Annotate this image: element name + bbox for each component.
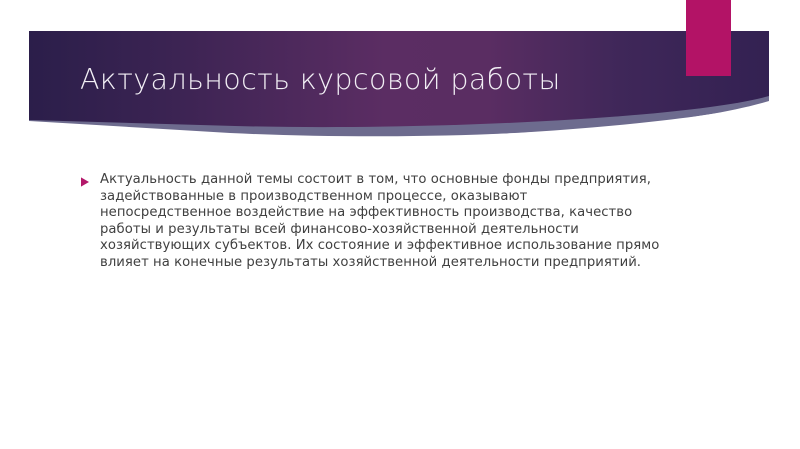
accent-block [686, 0, 731, 76]
slide-title: Актуальность курсовой работы [80, 64, 680, 95]
bullet-text: Актуальность данной темы состоит в том, … [100, 172, 660, 272]
presentation-slide: Актуальность курсовой работы Актуальност… [0, 0, 800, 449]
triangle-right-icon [80, 172, 100, 187]
banner-bottom-curve [120, 96, 800, 160]
slide-body: Актуальность данной темы состоит в том, … [80, 172, 660, 272]
bullet-list-item: Актуальность данной темы состоит в том, … [80, 172, 660, 272]
